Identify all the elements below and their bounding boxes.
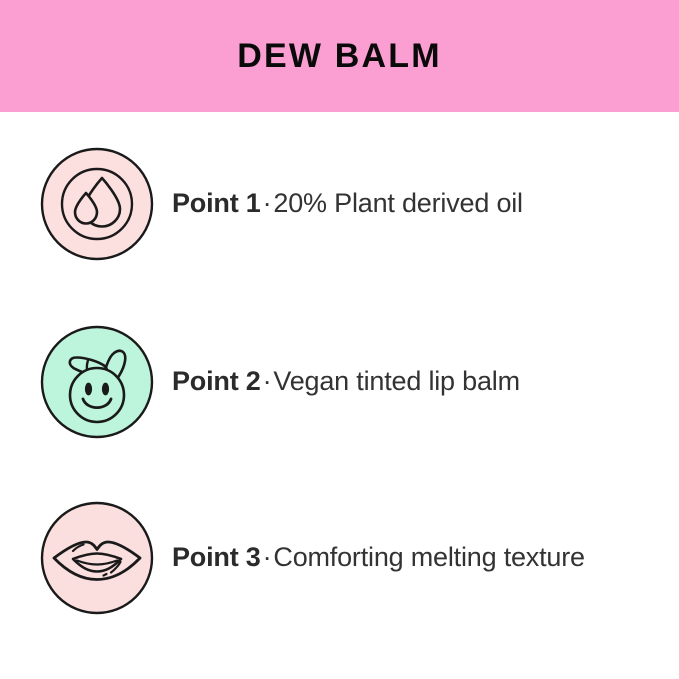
point-label: Point 3 [172,542,261,572]
separator-dot: · [261,542,274,572]
separator-dot: · [261,366,274,396]
list-item: Point 3·Comforting melting texture [40,501,660,615]
list-item: Point 1·20% Plant derived oil [40,147,660,261]
feature-description: Vegan tinted lip balm [273,366,519,396]
feature-text: Point 2·Vegan tinted lip balm [172,366,520,397]
list-item: Point 2·Vegan tinted lip balm [40,325,660,439]
feature-description: 20% Plant derived oil [273,188,522,218]
feature-list: Point 1·20% Plant derived oil [0,112,679,679]
feature-description: Comforting melting texture [273,542,584,572]
lips-icon [40,501,154,615]
separator-dot: · [261,188,274,218]
point-label: Point 1 [172,188,261,218]
feature-text: Point 1·20% Plant derived oil [172,188,523,219]
header-banner: DEW BALM [0,0,679,112]
point-label: Point 2 [172,366,261,396]
page-title: DEW BALM [237,39,442,73]
product-feature-panel: DEW BALM Point 1·20% Plant derived oil [0,0,679,679]
droplet-icon [40,147,154,261]
bunny-smiley-icon [40,325,154,439]
feature-text: Point 3·Comforting melting texture [172,542,585,573]
